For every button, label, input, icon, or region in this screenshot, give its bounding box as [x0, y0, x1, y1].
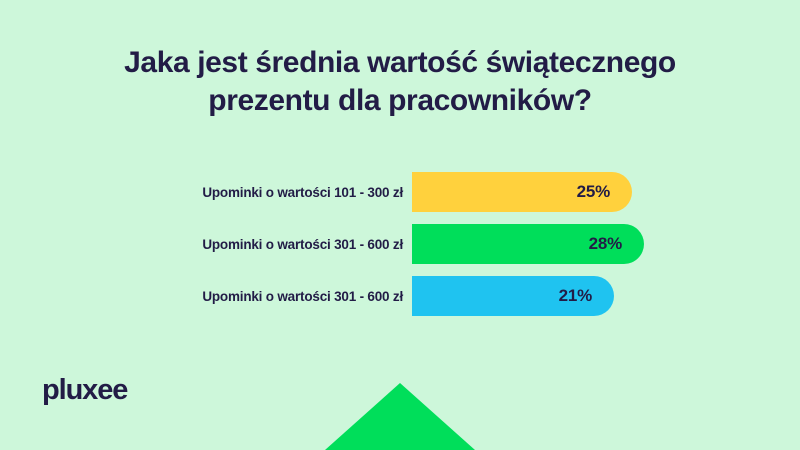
bar-chart: Upominki o wartości 101 - 300 zł 25% Upo…	[0, 172, 800, 328]
bar-category-label: Upominki o wartości 301 - 600 zł	[0, 289, 412, 304]
bar-track: 21%	[412, 276, 800, 316]
bar-category-label: Upominki o wartości 301 - 600 zł	[0, 237, 412, 252]
chart-row: Upominki o wartości 101 - 300 zł 25%	[0, 172, 800, 212]
bar-fill: 21%	[412, 276, 614, 316]
bar-category-label: Upominki o wartości 101 - 300 zł	[0, 185, 412, 200]
chart-row: Upominki o wartości 301 - 600 zł 21%	[0, 276, 800, 316]
bar-fill: 25%	[412, 172, 632, 212]
chart-row: Upominki o wartości 301 - 600 zł 28%	[0, 224, 800, 264]
page-title: Jaka jest średnia wartość świątecznego p…	[0, 44, 800, 120]
green-triangle-icon	[325, 383, 475, 450]
pluxee-logo: pluxee	[42, 374, 127, 407]
title-line-1: Jaka jest średnia wartość świątecznego	[70, 44, 730, 82]
bar-track: 25%	[412, 172, 800, 212]
bar-fill: 28%	[412, 224, 644, 264]
infographic-canvas: Jaka jest średnia wartość świątecznego p…	[0, 0, 800, 450]
bar-value-label: 21%	[559, 286, 592, 306]
bar-value-label: 25%	[577, 182, 610, 202]
bar-track: 28%	[412, 224, 800, 264]
title-line-2: prezentu dla pracowników?	[70, 82, 730, 120]
bar-value-label: 28%	[589, 234, 622, 254]
